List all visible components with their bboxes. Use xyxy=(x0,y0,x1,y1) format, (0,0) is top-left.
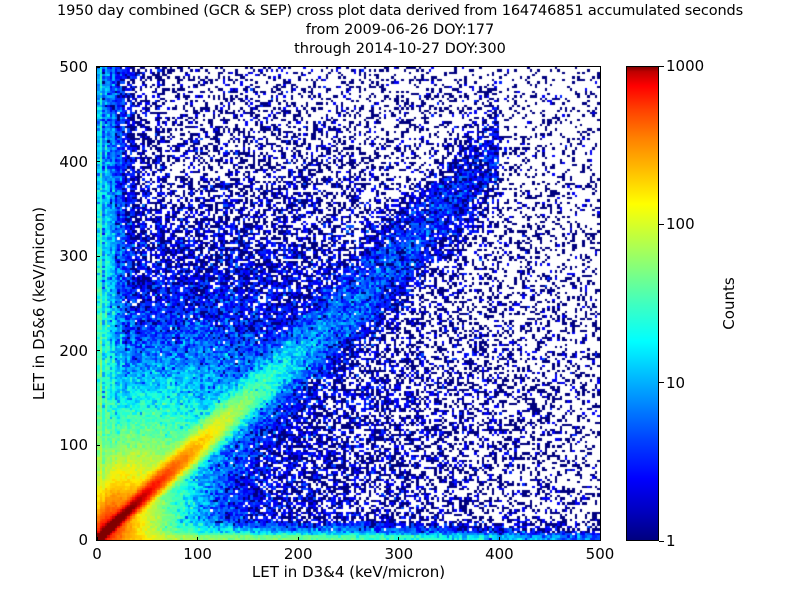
y-axis-label: LET in D5&6 (keV/micron) xyxy=(30,66,48,541)
x-tick-mark xyxy=(499,537,500,541)
y-tick-mark xyxy=(96,67,100,68)
x-tick-label: 300 xyxy=(384,545,413,563)
x-tick-mark xyxy=(600,537,601,541)
colorbar-tick-mark xyxy=(659,224,664,225)
chart-title-line-2: from 2009-06-26 DOY:177 xyxy=(0,21,800,40)
colorbar-tick-label: 1000 xyxy=(666,57,704,75)
chart-title: 1950 day combined (GCR & SEP) cross plot… xyxy=(0,2,800,59)
colorbar-gradient xyxy=(626,66,659,541)
x-tick-label: 100 xyxy=(183,545,212,563)
colorbar-tick-label: 100 xyxy=(666,215,695,233)
heatmap-image xyxy=(97,67,600,540)
x-tick-mark xyxy=(197,537,198,541)
colorbar-tick-label: 10 xyxy=(666,374,685,392)
x-tick-label: 400 xyxy=(485,545,514,563)
y-tick-mark xyxy=(96,445,100,446)
y-tick-mark xyxy=(96,540,100,541)
chart-title-line-1: 1950 day combined (GCR & SEP) cross plot… xyxy=(0,2,800,21)
colorbar-tick-mark xyxy=(659,66,664,67)
colorbar xyxy=(626,66,659,541)
plot-area xyxy=(96,66,601,541)
x-axis-label: LET in D3&4 (keV/micron) xyxy=(96,563,601,581)
colorbar-tick-mark xyxy=(659,541,664,542)
x-tick-label: 500 xyxy=(586,545,615,563)
y-tick-mark xyxy=(96,350,100,351)
x-tick-mark xyxy=(398,537,399,541)
y-tick-mark xyxy=(96,256,100,257)
colorbar-tick-mark xyxy=(659,382,664,383)
x-tick-label: 0 xyxy=(92,545,102,563)
x-tick-label: 200 xyxy=(284,545,313,563)
figure-canvas: 1950 day combined (GCR & SEP) cross plot… xyxy=(0,0,800,600)
colorbar-label: Counts xyxy=(720,66,738,541)
x-tick-mark xyxy=(298,537,299,541)
y-tick-mark xyxy=(96,161,100,162)
colorbar-tick-label: 1 xyxy=(666,532,676,550)
